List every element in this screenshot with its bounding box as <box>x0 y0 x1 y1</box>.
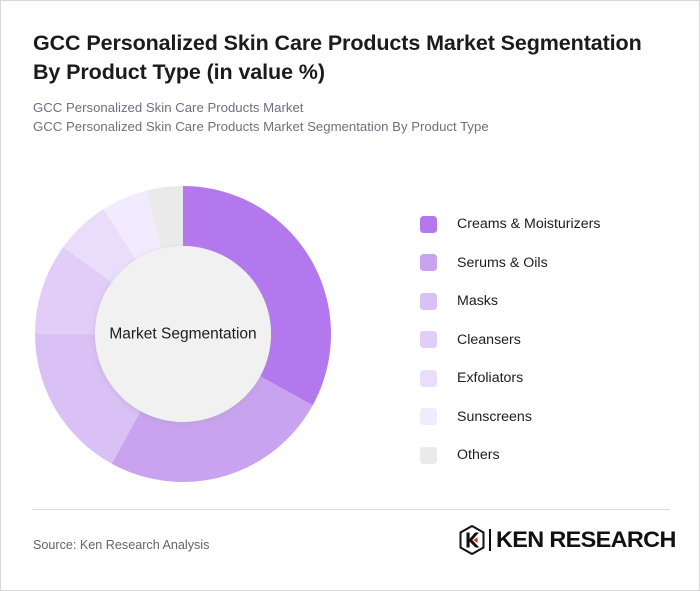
legend-label: Creams & Moisturizers <box>457 216 600 232</box>
legend-swatch <box>420 216 437 233</box>
legend-swatch <box>420 370 437 387</box>
chart-card: GCC Personalized Skin Care Products Mark… <box>0 0 700 591</box>
legend-label: Sunscreens <box>457 409 532 425</box>
legend-item[interactable]: Creams & Moisturizers <box>420 205 670 244</box>
legend-label: Masks <box>457 293 498 309</box>
legend-label: Cleansers <box>457 332 521 348</box>
legend-item[interactable]: Masks <box>420 282 670 321</box>
legend-swatch <box>420 447 437 464</box>
legend-swatch <box>420 408 437 425</box>
subtitle-group: GCC Personalized Skin Care Products Mark… <box>33 99 653 136</box>
legend-item[interactable]: Others <box>420 436 670 475</box>
brand-wordmark: KEN RESEARCH <box>496 529 676 552</box>
chart-legend: Creams & MoisturizersSerums & OilsMasksC… <box>420 205 670 475</box>
logo-divider <box>489 529 491 551</box>
legend-label: Serums & Oils <box>457 255 548 271</box>
legend-swatch <box>420 293 437 310</box>
donut-chart: Market Segmentation <box>33 184 333 484</box>
chart-body: Market Segmentation Creams & Moisturizer… <box>1 169 700 499</box>
legend-swatch <box>420 254 437 271</box>
footer-divider <box>32 509 670 510</box>
subtitle-market: GCC Personalized Skin Care Products Mark… <box>33 99 653 118</box>
legend-item[interactable]: Cleansers <box>420 321 670 360</box>
legend-item[interactable]: Sunscreens <box>420 398 670 437</box>
legend-item[interactable]: Serums & Oils <box>420 244 670 283</box>
legend-label: Exfoliators <box>457 370 523 386</box>
page-title: GCC Personalized Skin Care Products Mark… <box>33 29 653 86</box>
donut-chart-svg: Market Segmentation <box>33 184 333 484</box>
donut-center-label: Market Segmentation <box>109 326 256 343</box>
ken-research-logo: KEN RESEARCH <box>459 525 669 555</box>
legend-swatch <box>420 331 437 348</box>
ken-research-hexagon-icon <box>459 525 485 555</box>
chart-header: GCC Personalized Skin Care Products Mark… <box>33 29 653 137</box>
subtitle-segmentation: GCC Personalized Skin Care Products Mark… <box>33 118 653 137</box>
source-note: Source: Ken Research Analysis <box>33 538 209 552</box>
legend-label: Others <box>457 447 500 463</box>
legend-item[interactable]: Exfoliators <box>420 359 670 398</box>
